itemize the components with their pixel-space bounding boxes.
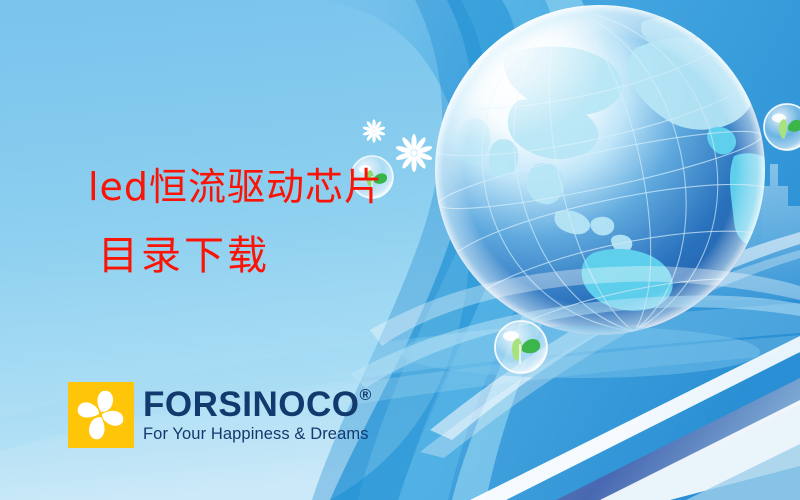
logo-mark — [68, 382, 134, 448]
logo-wordmark: FORSINOCO ® — [143, 387, 372, 422]
headline-line-1: led恒流驱动芯片 — [88, 168, 383, 206]
logo-tagline: For Your Happiness & Dreams — [143, 426, 372, 443]
promo-banner: led恒流驱动芯片 目录下载 FORSINOCO ® For Your Happ… — [0, 0, 800, 500]
headline-line-2: 目录下载 — [98, 236, 270, 276]
registered-trademark-icon: ® — [359, 388, 371, 404]
bubble-lower-center — [495, 321, 547, 373]
logo-text-block: FORSINOCO ® For Your Happiness & Dreams — [143, 387, 372, 443]
company-logo: FORSINOCO ® For Your Happiness & Dreams — [68, 382, 372, 448]
logo-wordmark-text: FORSINOCO — [143, 387, 359, 422]
four-petal-pinwheel-icon — [68, 382, 134, 448]
